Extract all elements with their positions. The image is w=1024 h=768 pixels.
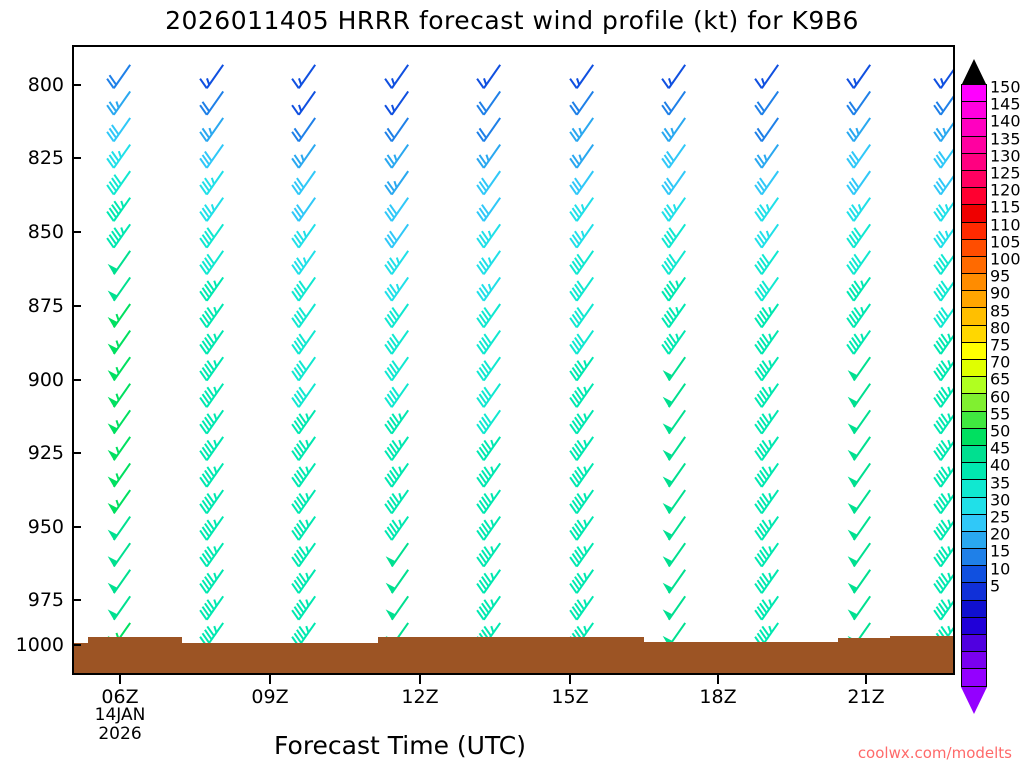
wind-barb (663, 410, 686, 433)
wind-barb (108, 384, 131, 407)
wind-barb (477, 543, 500, 566)
wind-barb (662, 277, 685, 300)
wind-barb (200, 331, 223, 354)
wind-barb (385, 277, 408, 300)
wind-barb (107, 145, 130, 168)
wind-barb (847, 277, 870, 300)
wind-barb (385, 437, 408, 460)
x-axis-title: Forecast Time (UTC) (0, 731, 800, 760)
colorbar-segment (961, 411, 987, 429)
wind-barb (385, 145, 408, 168)
wind-barb (108, 331, 131, 354)
wind-barb (385, 304, 408, 327)
colorbar-segment (961, 600, 987, 618)
wind-barb (755, 251, 778, 274)
wind-barb (292, 410, 315, 433)
wind-barb (755, 145, 778, 168)
terrain-step (74, 643, 88, 673)
colorbar-segment (961, 634, 987, 652)
colorbar-segment (961, 290, 987, 308)
wind-barb (477, 198, 500, 221)
wind-barb (108, 277, 131, 300)
wind-barb (663, 384, 686, 407)
wind-barb (292, 543, 315, 566)
terrain-step (644, 642, 838, 673)
y-axis-tick-mark (72, 84, 81, 86)
wind-barb (108, 304, 131, 327)
colorbar-tick-label: 90 (990, 284, 1010, 303)
wind-barb (292, 437, 315, 460)
wind-barb (385, 490, 408, 513)
wind-barb (755, 570, 778, 593)
wind-barb (385, 118, 408, 141)
wind-barb (662, 118, 685, 141)
wind-barb (477, 251, 500, 274)
wind-barb (292, 357, 315, 380)
terrain-step (378, 637, 644, 673)
wind-barb (200, 198, 223, 221)
wind-barb (385, 357, 408, 380)
y-axis-tick-label: 800 (28, 74, 64, 96)
colorbar-segment (961, 445, 987, 463)
wind-barb (934, 304, 953, 327)
wind-barb (200, 437, 223, 460)
x-axis-tick-label: 15Z (551, 686, 588, 708)
wind-barb (477, 410, 500, 433)
colorbar-segment (961, 307, 987, 325)
colorbar-segment (961, 548, 987, 566)
wind-barb (200, 596, 223, 619)
x-axis-tick-label: 09Z (251, 686, 288, 708)
colorbar-tick-label: 80 (990, 318, 1010, 337)
wind-barb (934, 570, 953, 593)
wind-barb (848, 463, 871, 486)
wind-barb (108, 410, 131, 433)
y-axis-tick-label: 850 (28, 221, 64, 243)
wind-barb (292, 251, 315, 274)
wind-barb (385, 198, 408, 221)
wind-barb (292, 91, 315, 114)
colorbar-tick-label: 10 (990, 559, 1010, 578)
wind-barb (107, 65, 130, 88)
colorbar-segment (961, 239, 987, 257)
colorbar-segment (961, 187, 987, 205)
wind-barb (477, 118, 500, 141)
wind-barb (292, 463, 315, 486)
wind-barb (477, 65, 500, 88)
wind-barb (570, 304, 593, 327)
colorbar-segment (961, 393, 987, 411)
colorbar-tick-label: 50 (990, 422, 1010, 441)
wind-profile-chart: 2026011405 HRRR forecast wind profile (k… (0, 0, 1024, 768)
wind-barb (847, 145, 870, 168)
y-axis-tick-mark (72, 379, 81, 381)
colorbar-segment (961, 118, 987, 136)
wind-barb (570, 224, 593, 247)
wind-barb (570, 570, 593, 593)
wind-barb (662, 171, 685, 194)
colorbar-tick-label: 95 (990, 267, 1010, 286)
colorbar-tick-label: 65 (990, 370, 1010, 389)
wind-barb (848, 543, 871, 566)
wind-barb (847, 198, 870, 221)
wind-barb (570, 463, 593, 486)
wind-barb (663, 437, 686, 460)
colorbar-segment (961, 531, 987, 549)
wind-barb (107, 118, 130, 141)
wind-barb (848, 437, 871, 460)
colorbar-tick-label: 115 (990, 198, 1021, 217)
wind-barb (570, 384, 593, 407)
x-axis-date-day: 14JAN (95, 706, 146, 725)
wind-barb (934, 118, 953, 141)
wind-barb (477, 490, 500, 513)
wind-barb (570, 543, 593, 566)
y-axis-tick-label: 925 (28, 442, 64, 464)
wind-barb (934, 384, 953, 407)
wind-barb (934, 91, 953, 114)
x-axis-tick-label: 18Z (699, 686, 736, 708)
x-axis-tick-label: 12Z (401, 686, 438, 708)
colorbar-segment (961, 101, 987, 119)
wind-barb (477, 570, 500, 593)
wind-barb (755, 198, 778, 221)
colorbar-tick-label: 30 (990, 490, 1010, 509)
wind-barb (755, 118, 778, 141)
wind-barb (570, 118, 593, 141)
wind-barb (755, 543, 778, 566)
colorbar-segment (961, 273, 987, 291)
wind-barb (847, 331, 870, 354)
wind-barb (385, 65, 408, 88)
wind-barb (934, 357, 953, 380)
wind-barb (755, 304, 778, 327)
wind-barb (477, 145, 500, 168)
credit-link[interactable]: coolwx.com/modelts (858, 744, 1012, 762)
wind-barb (386, 570, 409, 593)
wind-barb (662, 65, 685, 88)
wind-barb (570, 65, 593, 88)
plot-area (72, 45, 955, 675)
y-axis-tick-label: 975 (28, 589, 64, 611)
wind-barb (934, 463, 953, 486)
wind-barb (385, 224, 408, 247)
wind-barb (848, 490, 871, 513)
wind-barb (477, 437, 500, 460)
wind-barb (755, 517, 778, 540)
colorbar-segment (961, 565, 987, 583)
wind-barb (570, 277, 593, 300)
wind-barb (386, 596, 409, 619)
wind-barb (663, 570, 686, 593)
wind-barb (477, 331, 500, 354)
wind-barb (934, 251, 953, 274)
colorbar-tick-label: 75 (990, 336, 1010, 355)
wind-barb (477, 171, 500, 194)
colorbar-tick-label: 120 (990, 181, 1021, 200)
wind-barb (934, 171, 953, 194)
wind-barb (934, 65, 953, 88)
x-axis-tick-mark (865, 675, 867, 684)
colorbar-tick-label: 40 (990, 456, 1010, 475)
wind-barb (108, 517, 131, 540)
wind-barb (292, 198, 315, 221)
wind-barb (755, 437, 778, 460)
colorbar-segment (961, 479, 987, 497)
colorbar-tick-label: 20 (990, 525, 1010, 544)
y-axis-tick-mark (72, 599, 81, 601)
wind-barb (662, 198, 685, 221)
wind-barb (570, 145, 593, 168)
y-axis-tick-label: 825 (28, 147, 64, 169)
y-axis-labels: 8008258508759009259509751000 (0, 0, 64, 768)
x-axis-tick-mark (269, 675, 271, 684)
wind-barb (200, 171, 223, 194)
wind-barb (200, 91, 223, 114)
wind-barb (477, 357, 500, 380)
wind-barb (663, 490, 686, 513)
wind-barb (477, 384, 500, 407)
colorbar-tick-label: 35 (990, 473, 1010, 492)
colorbar-tick-label: 125 (990, 164, 1021, 183)
wind-barb (663, 543, 686, 566)
wind-barb (847, 304, 870, 327)
terrain-step (890, 636, 953, 673)
wind-barb (755, 357, 778, 380)
wind-barb (663, 357, 686, 380)
colorbar-segment (961, 325, 987, 343)
wind-barb (662, 224, 685, 247)
wind-barb (755, 277, 778, 300)
colorbar-under-arrow (961, 687, 987, 714)
colorbar-tick-label: 25 (990, 508, 1010, 527)
wind-barb (848, 596, 871, 619)
y-axis-tick-mark (72, 305, 81, 307)
wind-barb (934, 277, 953, 300)
wind-barb (570, 490, 593, 513)
wind-barb (847, 118, 870, 141)
wind-barb (848, 570, 871, 593)
wind-barb (108, 543, 131, 566)
wind-barb (385, 91, 408, 114)
wind-barb (570, 171, 593, 194)
wind-barb (108, 437, 131, 460)
y-axis-tick-label: 1000 (16, 634, 64, 656)
wind-barb (200, 357, 223, 380)
wind-barb (934, 145, 953, 168)
wind-barb (292, 596, 315, 619)
x-axis-tick-mark (119, 675, 121, 684)
colorbar-tick-label: 5 (990, 576, 1000, 595)
wind-barb (934, 437, 953, 460)
colorbar-segment (961, 222, 987, 240)
wind-barb (755, 596, 778, 619)
wind-barb (477, 596, 500, 619)
colorbar-tick-label: 135 (990, 129, 1021, 148)
wind-barb (570, 91, 593, 114)
wind-barb (662, 251, 685, 274)
wind-barb (385, 331, 408, 354)
wind-barb (107, 198, 130, 221)
wind-barb (662, 91, 685, 114)
wind-barb (934, 596, 953, 619)
wind-barb (848, 384, 871, 407)
x-axis-tick-label: 21Z (847, 686, 884, 708)
colorbar-segment (961, 462, 987, 480)
wind-barb (570, 517, 593, 540)
wind-barb (934, 224, 953, 247)
wind-barb-layer (74, 47, 953, 673)
wind-barb (755, 490, 778, 513)
wind-barb (755, 463, 778, 486)
wind-barb (570, 251, 593, 274)
y-axis-tick-mark (72, 526, 81, 528)
plot-inner (74, 47, 953, 673)
wind-barb (292, 118, 315, 141)
x-axis-tick-mark (569, 675, 571, 684)
colorbar-segment (961, 359, 987, 377)
wind-barb (755, 331, 778, 354)
wind-barb (200, 304, 223, 327)
colorbar-over-arrow (961, 59, 987, 86)
wind-barb (108, 251, 131, 274)
colorbar-tick-label: 60 (990, 387, 1010, 406)
x-axis-tick-mark (717, 675, 719, 684)
wind-barb (200, 224, 223, 247)
wind-barb (848, 410, 871, 433)
page-title: 2026011405 HRRR forecast wind profile (k… (0, 6, 1024, 35)
colorbar-tick-label: 145 (990, 95, 1021, 114)
wind-barb (385, 463, 408, 486)
wind-barb (570, 410, 593, 433)
wind-barb (200, 118, 223, 141)
colorbar-tick-label: 45 (990, 439, 1010, 458)
wind-barb (755, 410, 778, 433)
colorbar[interactable] (961, 85, 987, 687)
colorbar-segment (961, 136, 987, 154)
wind-barb (385, 410, 408, 433)
wind-barb (847, 224, 870, 247)
y-axis-tick-label: 875 (28, 295, 64, 317)
wind-barb (200, 570, 223, 593)
wind-barb (200, 65, 223, 88)
colorbar-segment (961, 376, 987, 394)
wind-barb (292, 490, 315, 513)
colorbar-segment (961, 514, 987, 532)
y-axis-tick-label: 950 (28, 516, 64, 538)
wind-barb (292, 145, 315, 168)
wind-barb (108, 463, 131, 486)
terrain-step (838, 638, 890, 673)
wind-barb (934, 490, 953, 513)
wind-barb (755, 224, 778, 247)
wind-barb (755, 171, 778, 194)
wind-barb (292, 304, 315, 327)
colorbar-segment (961, 668, 987, 686)
wind-barb (570, 357, 593, 380)
y-axis-tick-mark (72, 157, 81, 159)
colorbar-segment (961, 256, 987, 274)
y-axis-tick-mark (72, 452, 81, 454)
wind-barb (755, 65, 778, 88)
wind-barb (662, 304, 685, 327)
wind-barb (847, 171, 870, 194)
wind-barb (292, 277, 315, 300)
wind-barb (662, 145, 685, 168)
wind-barb (663, 463, 686, 486)
wind-barb (292, 171, 315, 194)
wind-barb (477, 91, 500, 114)
y-axis-tick-mark (72, 231, 81, 233)
wind-barb (292, 384, 315, 407)
wind-barb (934, 331, 953, 354)
colorbar-tick-label: 85 (990, 301, 1010, 320)
wind-barb (663, 517, 686, 540)
colorbar-segment (961, 153, 987, 171)
wind-barb (292, 331, 315, 354)
wind-barb (847, 65, 870, 88)
colorbar-tick-label: 150 (990, 78, 1021, 97)
wind-barb (477, 277, 500, 300)
wind-barb (570, 437, 593, 460)
colorbar-segment (961, 582, 987, 600)
wind-barb (848, 517, 871, 540)
colorbar-segment (961, 342, 987, 360)
wind-barb (663, 596, 686, 619)
terrain-silhouette (74, 633, 953, 673)
wind-barb (200, 490, 223, 513)
wind-barb (848, 357, 871, 380)
colorbar-segment (961, 497, 987, 515)
wind-barb (200, 543, 223, 566)
wind-barb (200, 517, 223, 540)
wind-barb (385, 384, 408, 407)
colorbar-segment (961, 428, 987, 446)
wind-barb (755, 91, 778, 114)
wind-barb (385, 517, 408, 540)
wind-barb (108, 570, 131, 593)
wind-barb (755, 384, 778, 407)
colorbar-segment (961, 84, 987, 102)
wind-barb (200, 410, 223, 433)
terrain-step (88, 637, 182, 673)
wind-barb (847, 251, 870, 274)
colorbar-segment (961, 170, 987, 188)
wind-barb (570, 596, 593, 619)
colorbar-tick-label: 100 (990, 250, 1021, 269)
wind-barb (477, 304, 500, 327)
wind-barb (107, 224, 130, 247)
x-axis-tick-mark (419, 675, 421, 684)
wind-barb (385, 171, 408, 194)
colorbar-segment (961, 651, 987, 669)
wind-barb (477, 224, 500, 247)
wind-barb (386, 543, 409, 566)
wind-barb (934, 517, 953, 540)
wind-barb (200, 251, 223, 274)
wind-barb (934, 198, 953, 221)
y-axis-tick-label: 900 (28, 369, 64, 391)
colorbar-tick-label: 140 (990, 112, 1021, 131)
wind-barb (107, 171, 130, 194)
wind-barb (200, 277, 223, 300)
colorbar-tick-label: 55 (990, 404, 1010, 423)
wind-barb (108, 596, 131, 619)
colorbar-segment (961, 617, 987, 635)
colorbar-tick-label: 110 (990, 215, 1021, 234)
wind-barb (200, 463, 223, 486)
wind-barb (570, 198, 593, 221)
